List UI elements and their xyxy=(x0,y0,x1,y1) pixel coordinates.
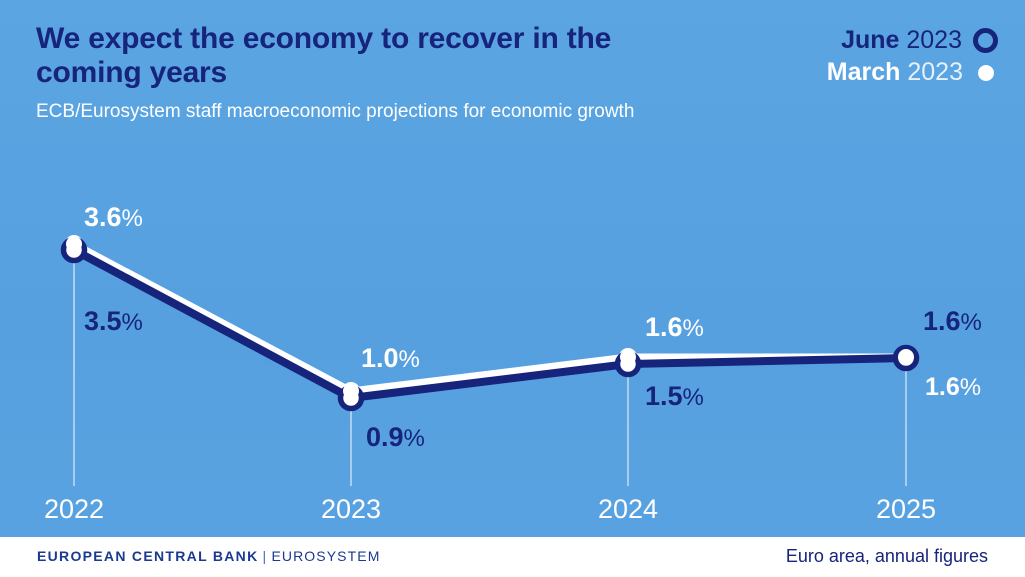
x-axis-tick-2024: 2024 xyxy=(598,496,658,523)
percent-sign: % xyxy=(961,309,982,336)
ecb-logo-separator: | xyxy=(263,548,268,564)
x-axis-tick-2025: 2025 xyxy=(876,496,936,523)
value-label-june-2023: 0.9% xyxy=(366,424,425,451)
ecb-logo-light: EUROSYSTEM xyxy=(271,548,380,564)
ecb-projection-infographic: We expect the economy to recover in the … xyxy=(0,0,1025,577)
line-chart-plot: 3.6% 3.5% 1.0% 0.9% 1.6% 1.5% 1.6% 1.6% … xyxy=(0,0,1025,577)
x-axis-tick-2023: 2023 xyxy=(321,496,381,523)
value-number: 0.9 xyxy=(366,422,404,452)
value-label-june-2022: 3.5% xyxy=(84,308,143,335)
percent-sign: % xyxy=(683,315,704,342)
percent-sign: % xyxy=(404,425,425,452)
percent-sign: % xyxy=(960,374,981,401)
percent-sign: % xyxy=(122,205,143,232)
value-label-march-2024: 1.6% xyxy=(645,314,704,341)
value-number: 1.5 xyxy=(645,381,683,411)
value-label-march-2022: 3.6% xyxy=(84,204,143,231)
footer-note: Euro area, annual figures xyxy=(786,546,988,567)
value-number: 3.6 xyxy=(84,202,122,232)
footer-bar: EUROPEAN CENTRAL BANK|EUROSYSTEM Euro ar… xyxy=(0,537,1025,577)
value-number: 1.0 xyxy=(361,343,399,373)
value-label-june-2024: 1.5% xyxy=(645,383,704,410)
value-number: 1.6 xyxy=(925,373,960,401)
value-label-june-2025: 1.6% xyxy=(923,308,982,335)
chart-svg xyxy=(0,0,1025,577)
percent-sign: % xyxy=(122,309,143,336)
x-axis-tick-2022: 2022 xyxy=(44,496,104,523)
value-number: 1.6 xyxy=(923,306,961,336)
percent-sign: % xyxy=(683,384,704,411)
value-label-march-2025: 1.6% xyxy=(925,375,981,400)
value-number: 1.6 xyxy=(645,312,683,342)
gridlines xyxy=(74,250,906,486)
value-number: 3.5 xyxy=(84,306,122,336)
percent-sign: % xyxy=(399,346,420,373)
ecb-logo: EUROPEAN CENTRAL BANK|EUROSYSTEM xyxy=(37,548,380,564)
value-label-march-2023: 1.0% xyxy=(361,345,420,372)
ecb-logo-bold: EUROPEAN CENTRAL BANK xyxy=(37,548,259,564)
